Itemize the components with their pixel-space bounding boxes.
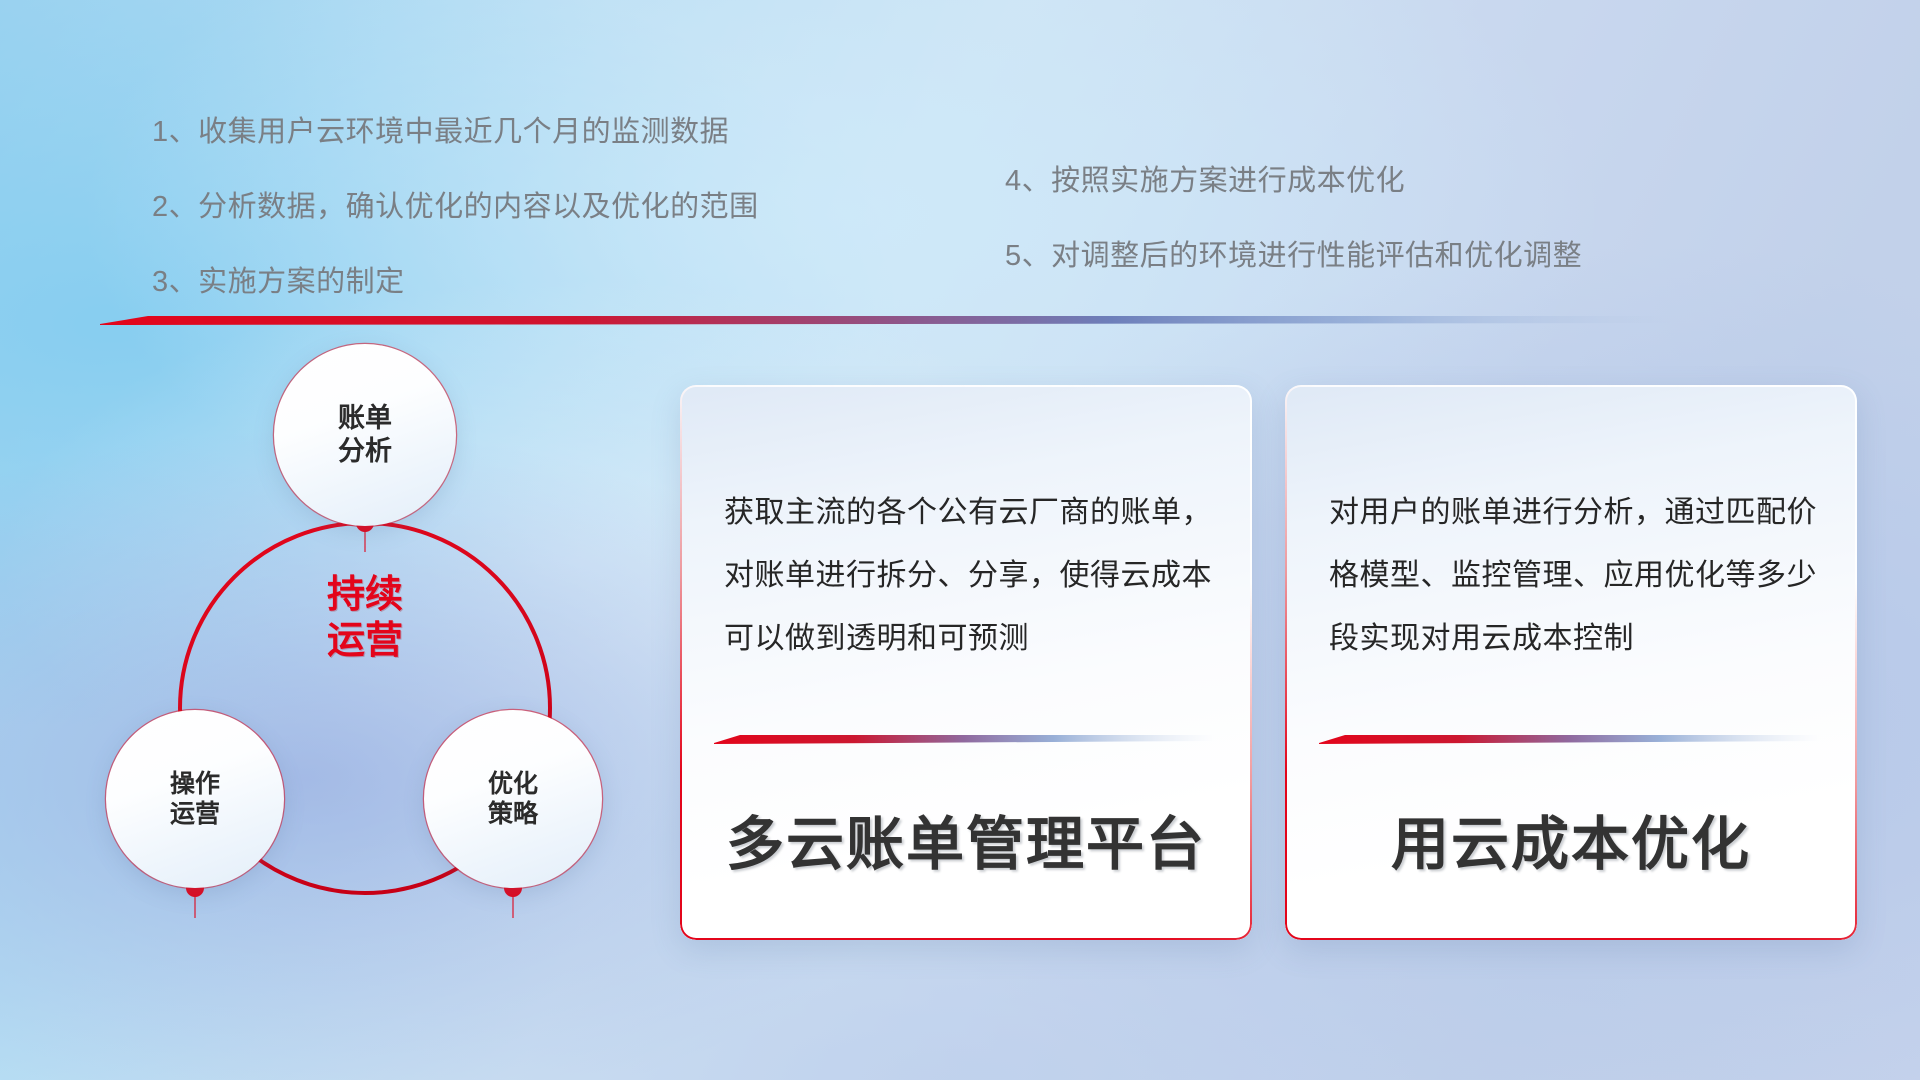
center-label-line1: 持续 [274, 572, 456, 618]
node-label-line2: 运营 [170, 799, 220, 830]
diagram-center-label: 持续 运营 [274, 572, 456, 665]
slide-canvas: 1、收集用户云环境中最近几个月的监测数据 2、分析数据，确认优化的内容以及优化的… [0, 0, 1920, 1080]
node-label-line1: 账单 [338, 402, 392, 435]
node-label-line1: 操作 [170, 769, 220, 800]
node-label-line2: 分析 [338, 435, 392, 468]
feature-card-multi-cloud-billing-platform[interactable]: 获取主流的各个公有云厂商的账单，对账单进行拆分、分享，使得云成本可以做到透明和可… [680, 385, 1252, 940]
card-divider [714, 733, 1214, 744]
card-body-text: 对用户的账单进行分析，通过匹配价格模型、监控管理、应用优化等多少段实现对用云成本… [1329, 481, 1817, 670]
step-item-1: 1、收集用户云环境中最近几个月的监测数据 [152, 108, 759, 150]
steps-left-column: 1、收集用户云环境中最近几个月的监测数据 2、分析数据，确认优化的内容以及优化的… [152, 108, 759, 300]
card-title: 多云账单管理平台 [680, 797, 1252, 881]
step-item-2: 2、分析数据，确认优化的内容以及优化的范围 [152, 183, 759, 225]
diagram-node-optimization[interactable]: 优化 策略 [424, 710, 602, 888]
center-label-line2: 运营 [274, 618, 456, 664]
diagram-node-operation[interactable]: 操作 运营 [106, 710, 284, 888]
card-divider [1319, 733, 1819, 744]
node-label-line1: 优化 [488, 769, 538, 800]
diagram-node-bill-analysis[interactable]: 账单 分析 [274, 344, 456, 526]
feature-card-cloud-cost-optimization[interactable]: 对用户的账单进行分析，通过匹配价格模型、监控管理、应用优化等多少段实现对用云成本… [1285, 385, 1857, 940]
continuous-operation-diagram: 账单 分析 操作 运营 优化 策略 持续 运营 [88, 340, 648, 960]
section-divider [100, 312, 1680, 326]
node-label-line2: 策略 [488, 799, 538, 830]
card-title: 用云成本优化 [1285, 797, 1857, 881]
step-item-5: 5、对调整后的环境进行性能评估和优化调整 [1005, 232, 1582, 274]
steps-right-column: 4、按照实施方案进行成本优化 5、对调整后的环境进行性能评估和优化调整 [1005, 157, 1582, 274]
step-item-3: 3、实施方案的制定 [152, 258, 759, 300]
card-body-text: 获取主流的各个公有云厂商的账单，对账单进行拆分、分享，使得云成本可以做到透明和可… [724, 481, 1212, 670]
step-item-4: 4、按照实施方案进行成本优化 [1005, 157, 1582, 199]
